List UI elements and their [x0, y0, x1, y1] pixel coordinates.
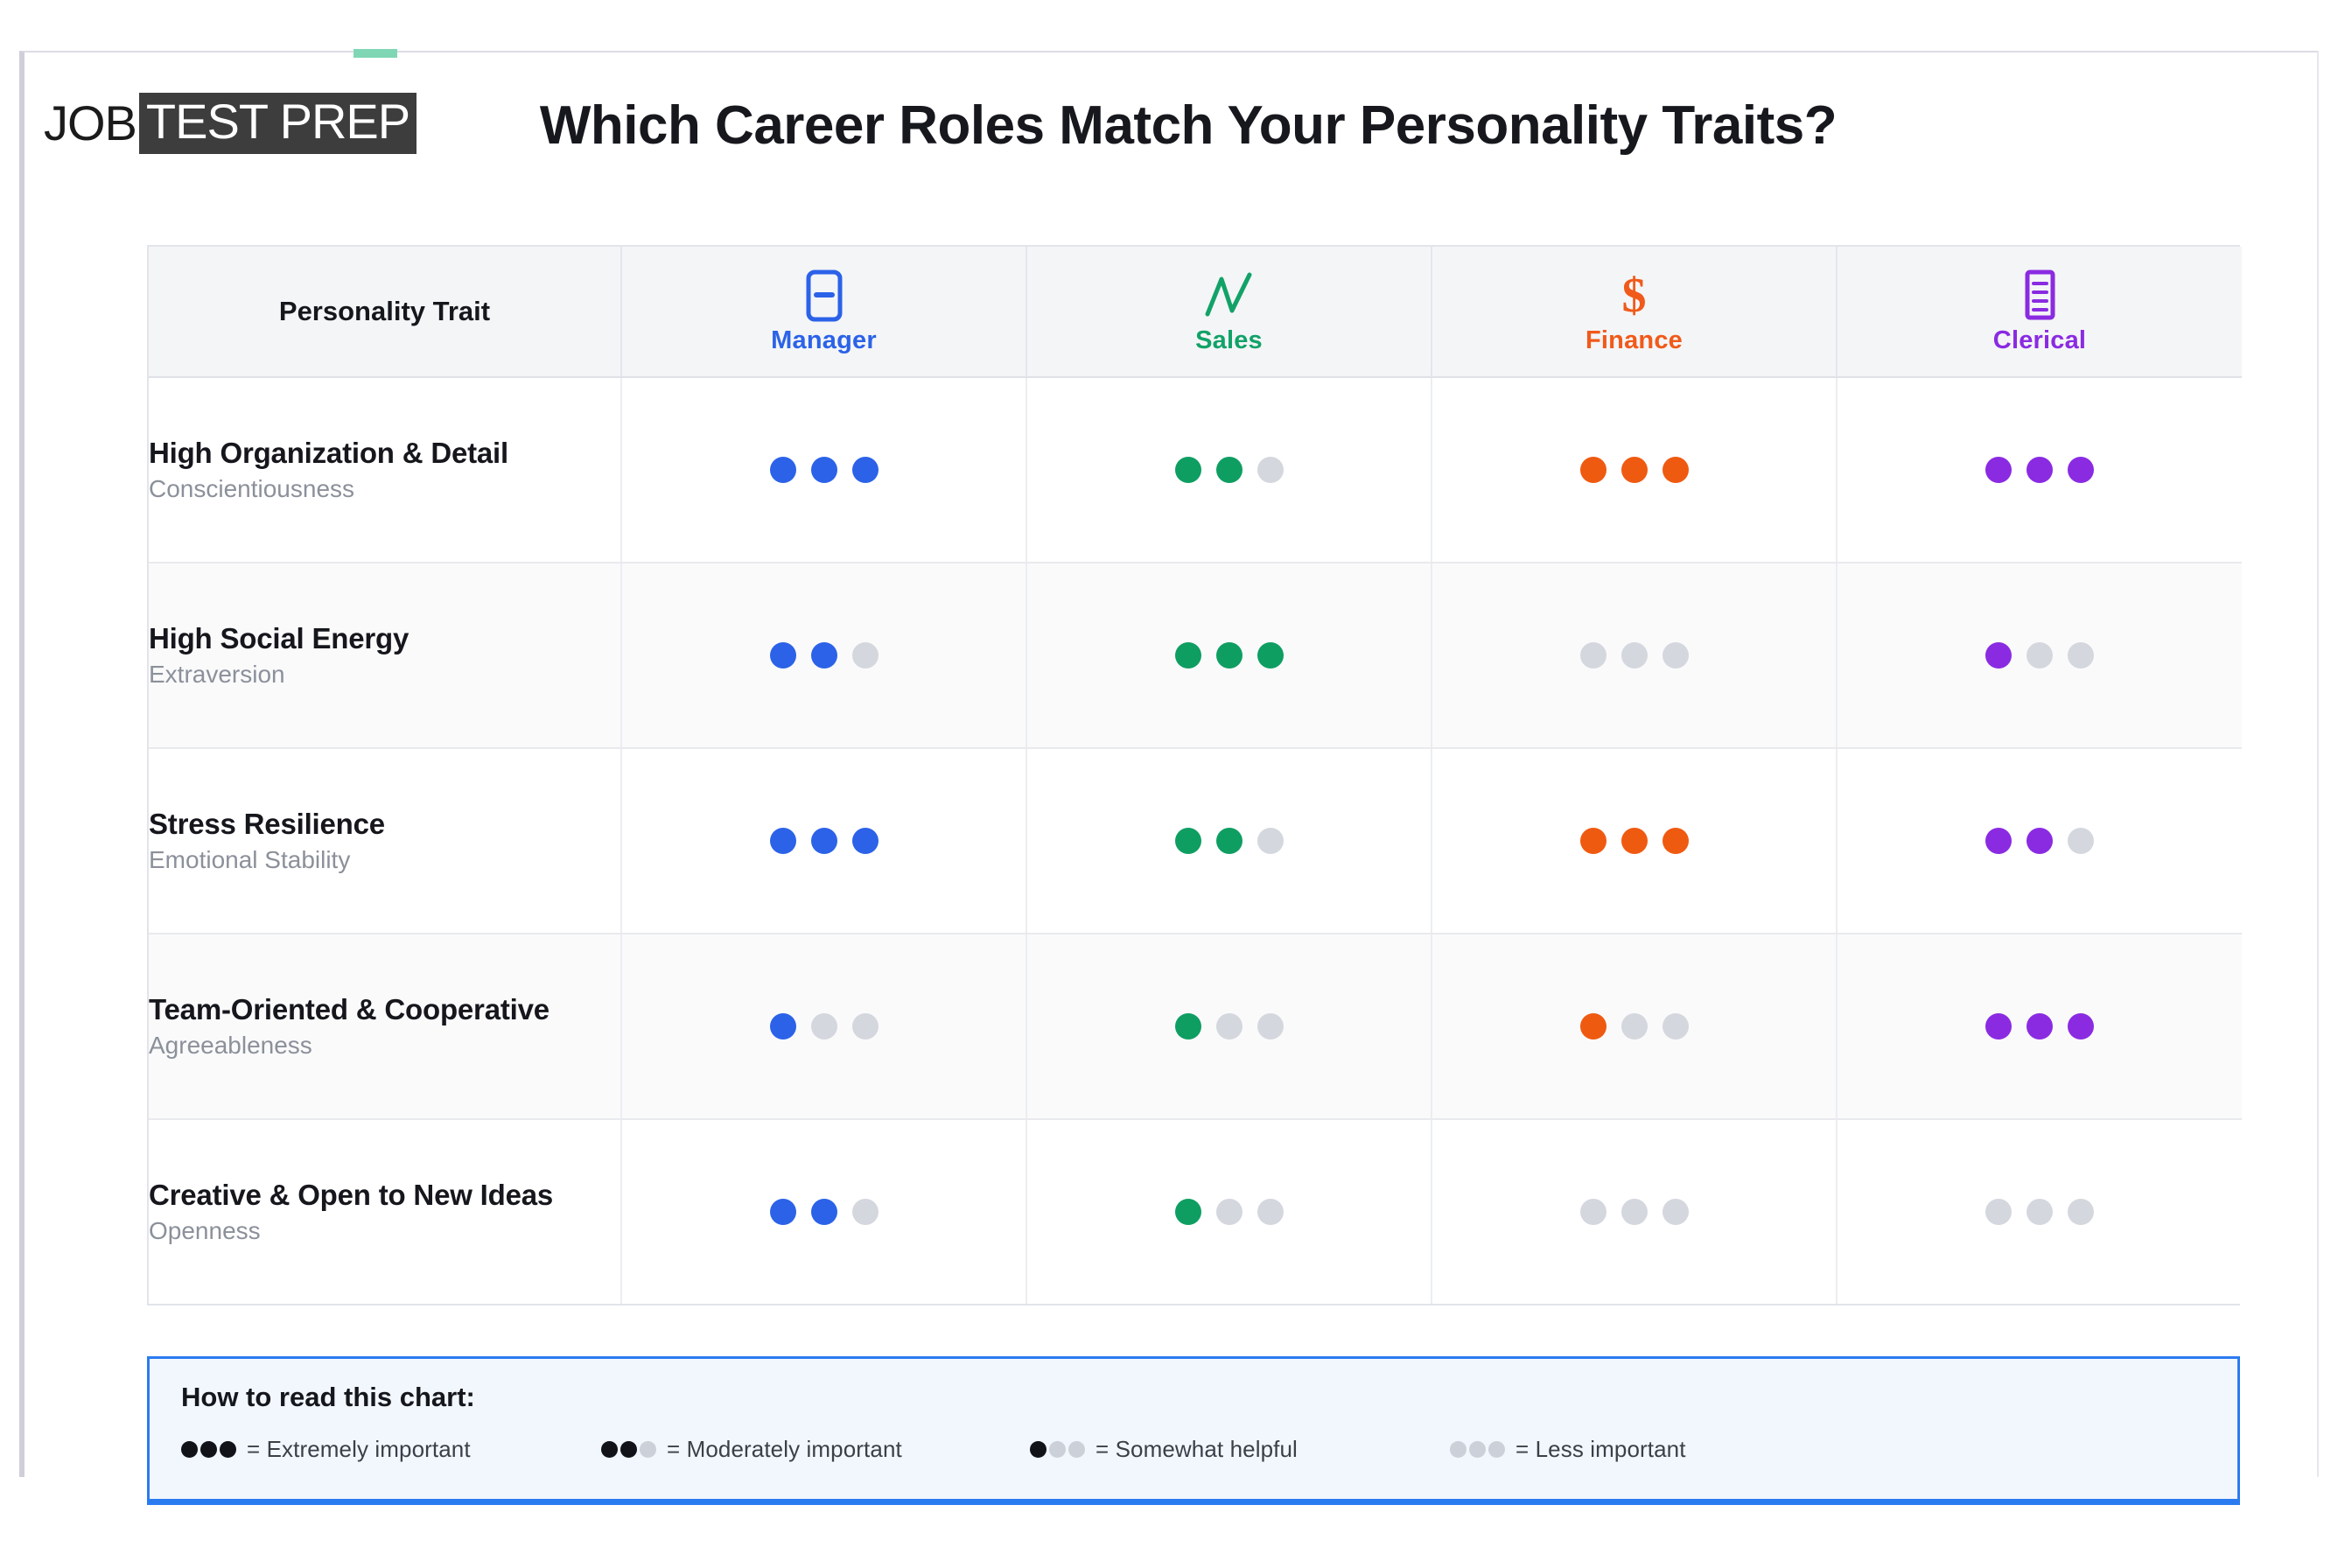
- rating-cell-clerical: [1837, 563, 2242, 748]
- rating-dot-filled: [1175, 1199, 1201, 1225]
- table-row: High Organization & DetailConscientiousn…: [149, 377, 2242, 563]
- legend-dot-empty: [1450, 1441, 1466, 1458]
- rating-cell-manager: [621, 748, 1026, 934]
- rating-dots: [1432, 1013, 1836, 1039]
- legend-dots: [181, 1441, 236, 1458]
- rating-dots: [1837, 828, 2242, 854]
- rating-dot-filled: [811, 828, 837, 854]
- legend-item: = Somewhat helpful: [1030, 1436, 1450, 1463]
- rating-dot-filled: [2026, 1013, 2053, 1039]
- rating-dot-filled: [811, 1199, 837, 1225]
- rating-dot-filled: [852, 828, 878, 854]
- rating-dot-filled: [1175, 642, 1201, 668]
- rating-dots: [622, 1013, 1025, 1039]
- rating-dot-filled: [1257, 642, 1284, 668]
- legend-item: = Less important: [1450, 1436, 1686, 1463]
- legend-dots: [1030, 1441, 1085, 1458]
- rating-dot-empty: [852, 642, 878, 668]
- role-label-finance: Finance: [1585, 326, 1683, 355]
- rating-dots: [622, 642, 1025, 668]
- legend-dot-empty: [1049, 1441, 1066, 1458]
- rating-dot-filled: [1580, 457, 1606, 483]
- rating-dot-filled: [1985, 1013, 2012, 1039]
- legend-dot-empty: [640, 1441, 656, 1458]
- trait-subtitle: Agreeableness: [149, 1032, 620, 1060]
- rating-dot-filled: [811, 642, 837, 668]
- rating-dots: [1837, 1199, 2242, 1225]
- rating-dot-filled: [2068, 1013, 2094, 1039]
- legend-box: How to read this chart: = Extremely impo…: [147, 1356, 2240, 1505]
- trait-subtitle: Extraversion: [149, 661, 620, 689]
- rating-dot-filled: [1662, 457, 1689, 483]
- trait-cell: Stress ResilienceEmotional Stability: [149, 748, 621, 934]
- rating-dot-filled: [1580, 1013, 1606, 1039]
- rating-cell-clerical: [1837, 1119, 2242, 1304]
- rating-dot-empty: [1580, 1199, 1606, 1225]
- rating-dot-empty: [852, 1013, 878, 1039]
- rating-dots: [1432, 642, 1836, 668]
- rating-dot-empty: [811, 1013, 837, 1039]
- rating-dot-filled: [1216, 457, 1242, 483]
- rating-dot-empty: [1257, 1013, 1284, 1039]
- legend-title: How to read this chart:: [181, 1382, 2206, 1413]
- rating-dot-filled: [1662, 828, 1689, 854]
- content-card: JOB TEST PREP Which Career Roles Match Y…: [19, 51, 2319, 1477]
- legend-item: = Moderately important: [601, 1436, 1030, 1463]
- trait-title: High Organization & Detail: [149, 437, 620, 470]
- trait-subtitle: Conscientiousness: [149, 475, 620, 503]
- rating-cell-manager: [621, 934, 1026, 1119]
- clipboard-icon: [802, 269, 846, 323]
- legend-dot-empty: [1068, 1441, 1085, 1458]
- rating-dot-filled: [770, 457, 796, 483]
- rating-dots: [1837, 1013, 2242, 1039]
- rating-cell-clerical: [1837, 934, 2242, 1119]
- trait-subtitle: Emotional Stability: [149, 846, 620, 874]
- rating-dot-empty: [2068, 828, 2094, 854]
- trait-title: Stress Resilience: [149, 808, 620, 841]
- rating-dot-filled: [1580, 828, 1606, 854]
- rating-dot-empty: [1621, 1013, 1648, 1039]
- dollar-sign-icon: $: [1622, 269, 1647, 323]
- rating-dot-filled: [770, 642, 796, 668]
- legend-dot-filled: [620, 1441, 637, 1458]
- legend-dots: [1450, 1441, 1505, 1458]
- rating-dot-filled: [1175, 828, 1201, 854]
- table-header-row: Personality Trait Manager: [149, 247, 2242, 377]
- rating-cell-sales: [1026, 934, 1431, 1119]
- rating-cell-manager: [621, 1119, 1026, 1304]
- rating-dot-filled: [1175, 457, 1201, 483]
- rating-dot-empty: [1257, 457, 1284, 483]
- legend-dot-filled: [220, 1441, 236, 1458]
- rating-dot-empty: [1662, 1199, 1689, 1225]
- personality-matrix-table: Personality Trait Manager: [147, 245, 2240, 1305]
- rating-dot-filled: [2026, 457, 2053, 483]
- legend-dot-filled: [601, 1441, 618, 1458]
- legend-label: = Moderately important: [667, 1436, 902, 1463]
- trait-title: Creative & Open to New Ideas: [149, 1179, 620, 1212]
- rating-dots: [1432, 828, 1836, 854]
- page-header: JOB TEST PREP Which Career Roles Match Y…: [24, 52, 2317, 188]
- table-row: High Social EnergyExtraversion: [149, 563, 2242, 748]
- rating-dot-empty: [1662, 1013, 1689, 1039]
- legend-dot-filled: [181, 1441, 198, 1458]
- rating-cell-manager: [621, 563, 1026, 748]
- rating-dot-empty: [1621, 1199, 1648, 1225]
- rating-dot-filled: [770, 828, 796, 854]
- column-header-trait: Personality Trait: [149, 247, 621, 377]
- rating-dots: [1027, 1013, 1431, 1039]
- rating-dot-filled: [1985, 457, 2012, 483]
- column-header-clerical: Clerical: [1837, 247, 2242, 377]
- role-label-manager: Manager: [771, 326, 877, 355]
- table-row: Creative & Open to New IdeasOpenness: [149, 1119, 2242, 1304]
- legend-dot-filled: [1030, 1441, 1046, 1458]
- rating-cell-manager: [621, 377, 1026, 563]
- trait-cell: Team-Oriented & CooperativeAgreeableness: [149, 934, 621, 1119]
- column-header-sales: Sales: [1026, 247, 1431, 377]
- rating-dots: [622, 1199, 1025, 1225]
- legend-dot-empty: [1488, 1441, 1505, 1458]
- rating-dot-empty: [1257, 828, 1284, 854]
- rating-cell-finance: [1431, 1119, 1837, 1304]
- column-header-finance: $ Finance: [1431, 247, 1837, 377]
- rating-dot-empty: [1257, 1199, 1284, 1225]
- role-label-clerical: Clerical: [1993, 326, 2086, 355]
- legend-item: = Extremely important: [181, 1436, 601, 1463]
- rating-dots: [1432, 457, 1836, 483]
- trait-title: High Social Energy: [149, 622, 620, 655]
- rating-dot-filled: [770, 1013, 796, 1039]
- rating-dot-empty: [1580, 642, 1606, 668]
- rating-dot-empty: [1621, 642, 1648, 668]
- rating-cell-finance: [1431, 563, 1837, 748]
- rating-dots: [1027, 1199, 1431, 1225]
- logo-text-job: JOB: [44, 99, 139, 148]
- trait-cell: High Social EnergyExtraversion: [149, 563, 621, 748]
- role-label-sales: Sales: [1195, 326, 1263, 355]
- legend-items: = Extremely important= Moderately import…: [181, 1436, 2206, 1463]
- rating-cell-sales: [1026, 748, 1431, 934]
- rating-cell-clerical: [1837, 377, 2242, 563]
- rating-cell-finance: [1431, 377, 1837, 563]
- rating-dot-filled: [1175, 1013, 1201, 1039]
- rating-dots: [1837, 457, 2242, 483]
- rating-cell-sales: [1026, 1119, 1431, 1304]
- rating-dot-filled: [2026, 828, 2053, 854]
- rating-dot-empty: [2068, 642, 2094, 668]
- rating-dot-filled: [1621, 828, 1648, 854]
- trait-title: Team-Oriented & Cooperative: [149, 993, 620, 1026]
- rating-cell-finance: [1431, 934, 1837, 1119]
- legend-dot-empty: [1469, 1441, 1486, 1458]
- rating-dot-empty: [2026, 642, 2053, 668]
- rating-dot-empty: [1662, 642, 1689, 668]
- page-title: Which Career Roles Match Your Personalit…: [313, 94, 2063, 157]
- rating-cell-sales: [1026, 563, 1431, 748]
- trait-column-label: Personality Trait: [149, 296, 620, 327]
- legend-label: = Less important: [1515, 1436, 1686, 1463]
- rating-dot-filled: [811, 457, 837, 483]
- table-row: Team-Oriented & CooperativeAgreeableness: [149, 934, 2242, 1119]
- rating-dots: [622, 828, 1025, 854]
- trait-subtitle: Openness: [149, 1217, 620, 1245]
- legend-dot-filled: [200, 1441, 217, 1458]
- rating-cell-finance: [1431, 748, 1837, 934]
- rating-dots: [1837, 642, 2242, 668]
- rating-dot-empty: [2068, 1199, 2094, 1225]
- column-header-manager: Manager: [621, 247, 1026, 377]
- legend-label: = Somewhat helpful: [1095, 1436, 1298, 1463]
- rating-cell-sales: [1026, 377, 1431, 563]
- rating-dot-filled: [1621, 457, 1648, 483]
- rating-dot-filled: [2068, 457, 2094, 483]
- rating-dots: [1432, 1199, 1836, 1225]
- rating-dot-empty: [1216, 1199, 1242, 1225]
- rating-dot-filled: [852, 457, 878, 483]
- trait-cell: Creative & Open to New IdeasOpenness: [149, 1119, 621, 1304]
- rating-dot-filled: [1216, 828, 1242, 854]
- document-icon: [2019, 269, 2060, 323]
- rating-dots: [1027, 828, 1431, 854]
- infographic-page: JOB TEST PREP Which Career Roles Match Y…: [0, 0, 2338, 1568]
- rating-dot-empty: [1985, 1199, 2012, 1225]
- trend-line-icon: [1202, 269, 1256, 323]
- rating-dot-empty: [1216, 1013, 1242, 1039]
- table-body: High Organization & DetailConscientiousn…: [149, 377, 2242, 1304]
- rating-dot-filled: [1985, 828, 2012, 854]
- rating-dots: [622, 457, 1025, 483]
- rating-cell-clerical: [1837, 748, 2242, 934]
- rating-dots: [1027, 457, 1431, 483]
- table-row: Stress ResilienceEmotional Stability: [149, 748, 2242, 934]
- rating-dot-empty: [852, 1199, 878, 1225]
- trait-cell: High Organization & DetailConscientiousn…: [149, 377, 621, 563]
- rating-dot-filled: [1985, 642, 2012, 668]
- legend-label: = Extremely important: [247, 1436, 471, 1463]
- rating-dots: [1027, 642, 1431, 668]
- legend-dots: [601, 1441, 656, 1458]
- rating-dot-filled: [770, 1199, 796, 1225]
- rating-dot-empty: [2026, 1199, 2053, 1225]
- rating-dot-filled: [1216, 642, 1242, 668]
